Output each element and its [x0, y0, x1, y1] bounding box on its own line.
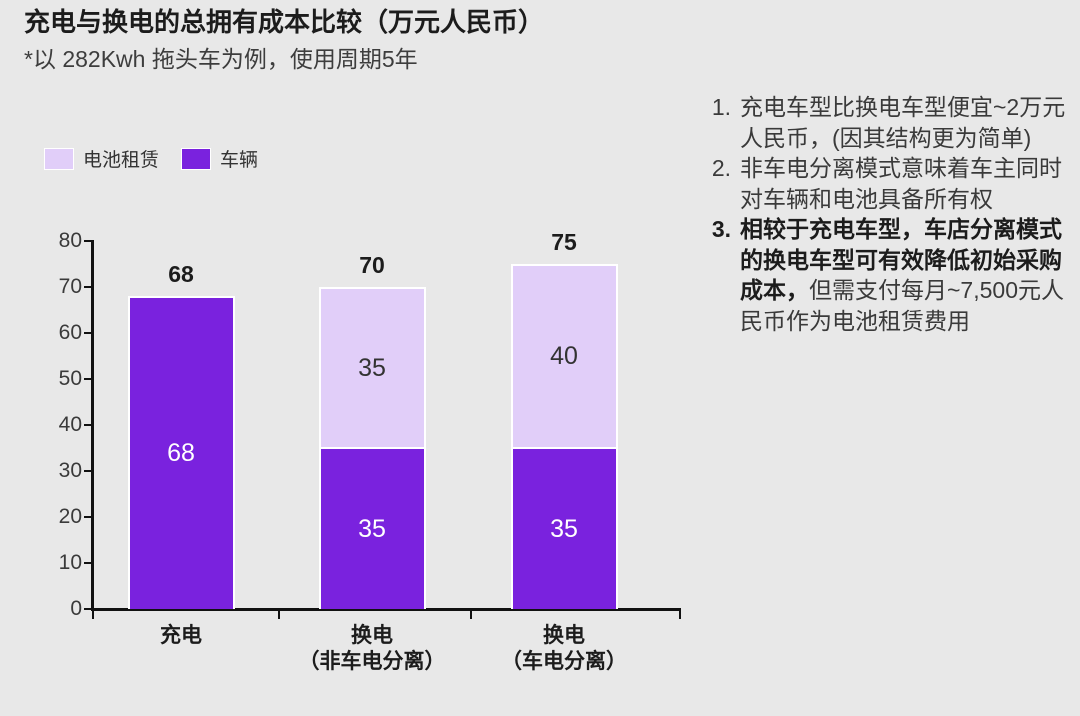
y-axis-tick-label: 60: [28, 321, 82, 345]
y-axis-tick: [84, 562, 94, 564]
bar-stack[interactable]: 68: [128, 296, 235, 609]
note-item-text: 充电车型比换电车型便宜~2万元人民币，(因其结构更为简单): [740, 92, 1072, 153]
bar-segment-value-label: 68: [167, 441, 195, 466]
x-axis-category-label: 换电 （车电分离）: [454, 623, 674, 676]
note-item-number: 2.: [706, 153, 740, 184]
bar-segment-value-label: 35: [358, 517, 386, 542]
x-axis-tick: [92, 608, 94, 619]
y-axis-tick-label: 80: [28, 229, 82, 253]
note-item-text: 相较于充电车型，车店分离模式的换电车型可有效降低初始采购成本，但需支付每月~7,…: [740, 214, 1072, 336]
bar-segment[interactable]: 35: [319, 287, 426, 448]
bar-segment[interactable]: 35: [319, 448, 426, 609]
x-axis-category-label: 换电 （非车电分离）: [262, 623, 482, 676]
y-axis-tick-label: 70: [28, 275, 82, 299]
y-axis-tick-label: 10: [28, 551, 82, 575]
y-axis-tick-label: 50: [28, 367, 82, 391]
bar-segment-value-label: 35: [550, 517, 578, 542]
x-axis-category-label: 充电: [71, 623, 291, 649]
bar-segment[interactable]: 35: [511, 448, 618, 609]
note-list-item: 1.充电车型比换电车型便宜~2万元人民币，(因其结构更为简单): [706, 92, 1072, 153]
y-axis-tick: [84, 424, 94, 426]
y-axis-tick: [84, 286, 94, 288]
insights-notes-list: 1.充电车型比换电车型便宜~2万元人民币，(因其结构更为简单)2.非车电分离模式…: [706, 92, 1072, 337]
note-item-text: 非车电分离模式意味着车主同时对车辆和电池具备所有权: [740, 153, 1072, 214]
y-axis-tick: [84, 240, 94, 242]
x-axis-tick: [679, 608, 681, 619]
note-item-number: 3.: [706, 214, 740, 245]
note-list-item: 2.非车电分离模式意味着车主同时对车辆和电池具备所有权: [706, 153, 1072, 214]
bar-segment[interactable]: 68: [128, 296, 235, 609]
bar-stack[interactable]: 3535: [319, 287, 426, 609]
note-item-number: 1.: [706, 92, 740, 123]
y-axis-tick: [84, 378, 94, 380]
y-axis-tick-label: 40: [28, 413, 82, 437]
y-axis-tick: [84, 332, 94, 334]
bar-total-label: 70: [319, 252, 426, 279]
bar-total-label: 75: [511, 229, 618, 256]
y-axis-tick: [84, 516, 94, 518]
y-axis-tick: [84, 470, 94, 472]
y-axis-tick-label: 30: [28, 459, 82, 483]
chart-plot-area: 01020304050607080 6868353570403575 充电换电 …: [0, 0, 700, 716]
bar-total-label: 68: [128, 261, 235, 288]
x-axis-tick: [278, 608, 280, 619]
note-list-item: 3.相较于充电车型，车店分离模式的换电车型可有效降低初始采购成本，但需支付每月~…: [706, 214, 1072, 336]
x-axis-tick: [470, 608, 472, 619]
bar-segment-value-label: 40: [550, 344, 578, 369]
bar-segment[interactable]: 40: [511, 264, 618, 448]
y-axis-tick-label: 0: [28, 597, 82, 621]
bar-segment-value-label: 35: [358, 356, 386, 381]
y-axis-tick-label: 20: [28, 505, 82, 529]
bar-stack[interactable]: 4035: [511, 264, 618, 609]
